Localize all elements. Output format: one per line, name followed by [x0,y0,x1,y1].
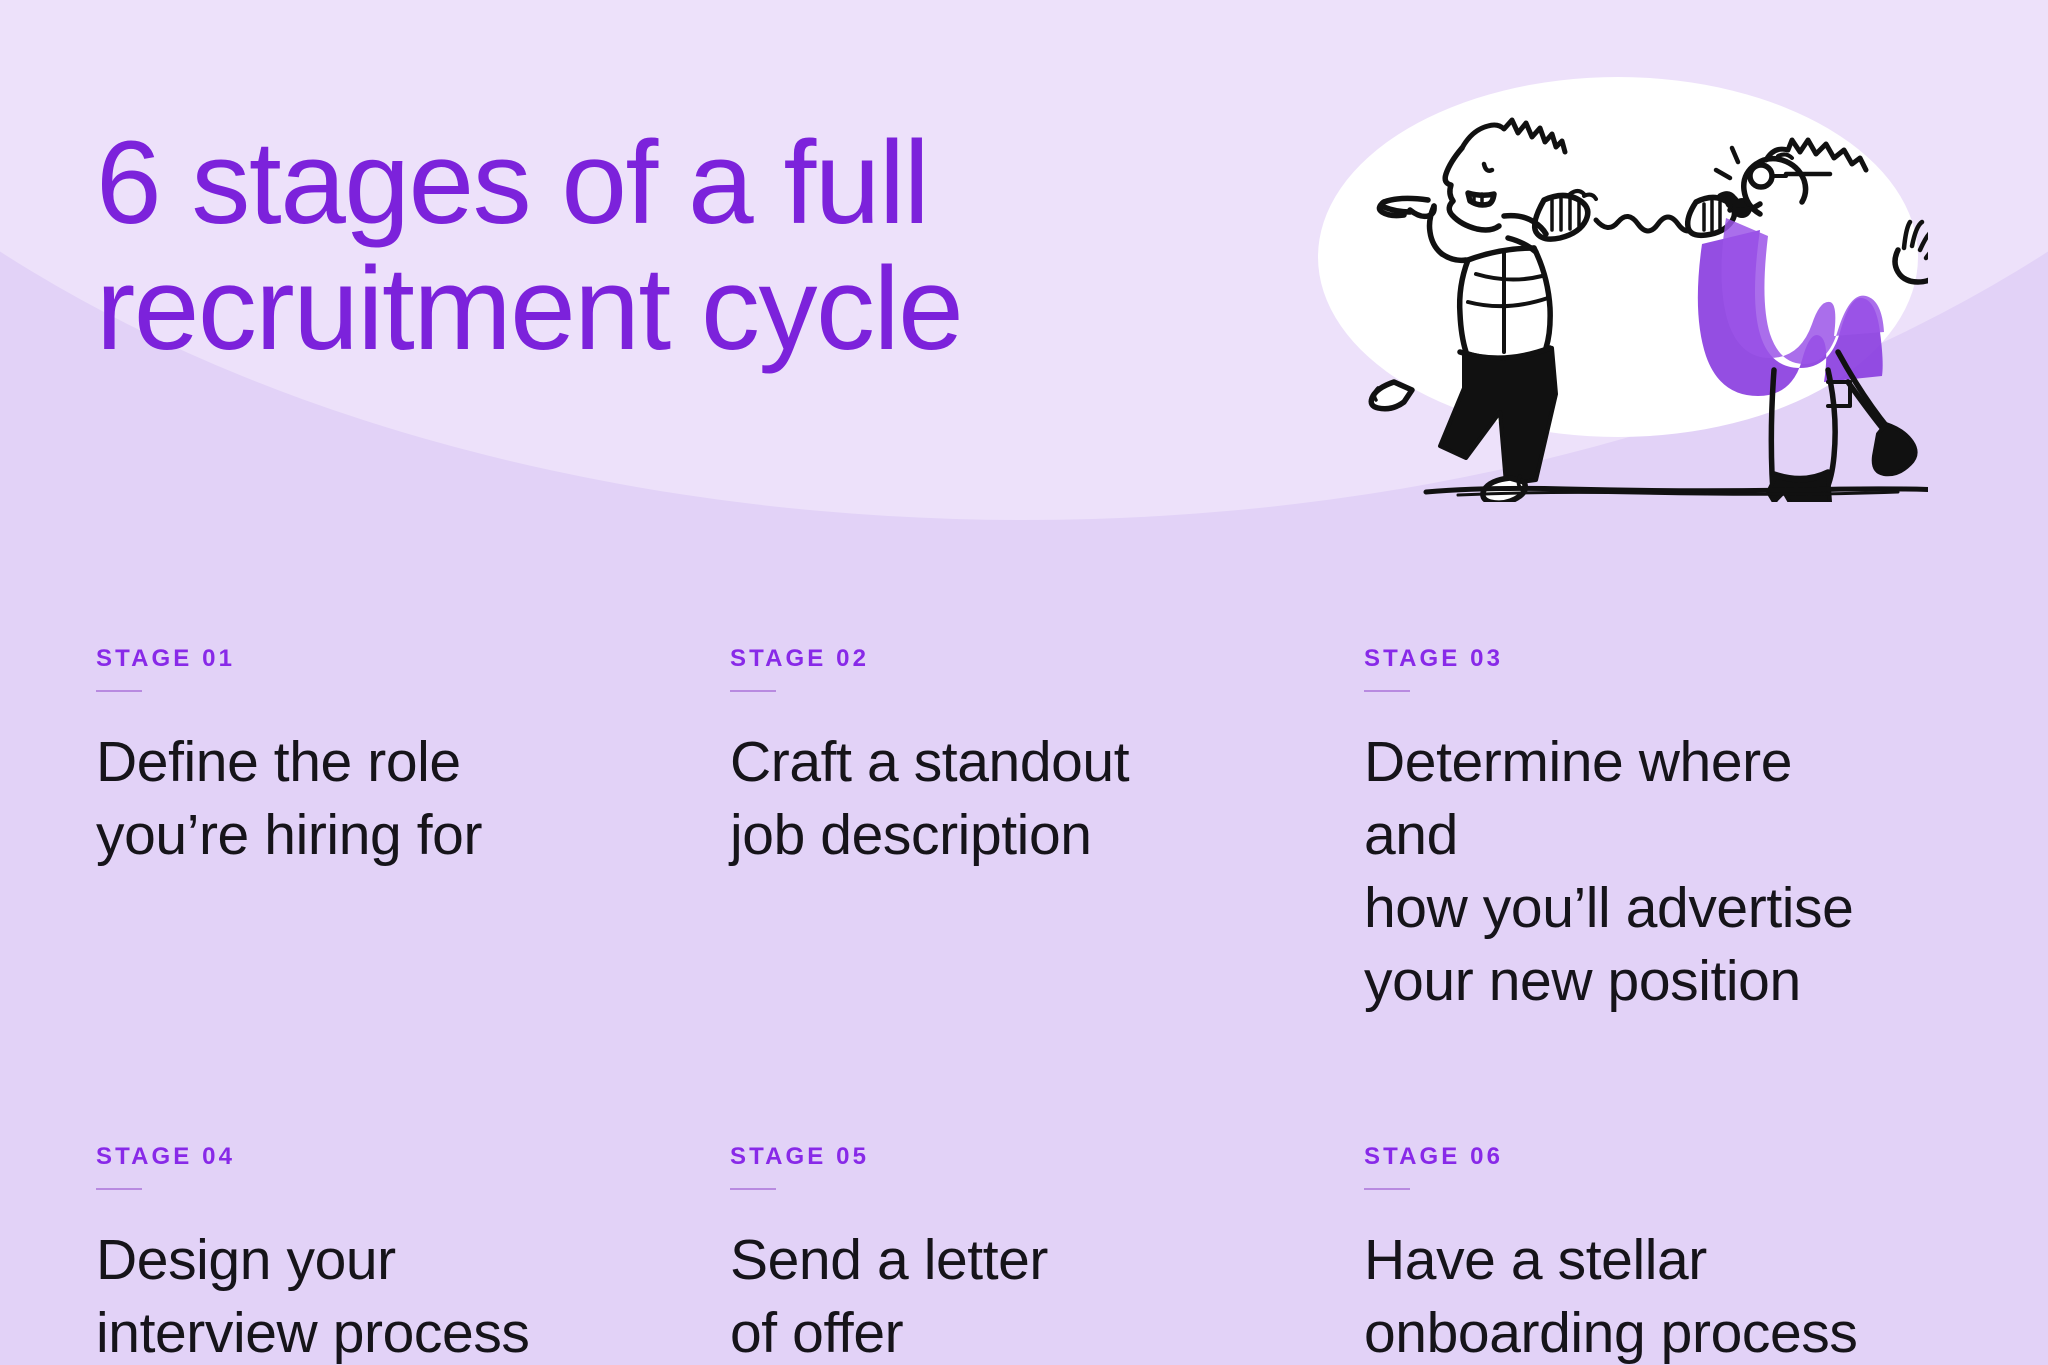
stage-title: Send a letter of offer [730,1224,1294,1365]
stage-rule [1364,690,1410,692]
stage-kicker: STAGE 05 [730,1143,1294,1171]
stage-card-05: STAGE 05 Send a letter of offer [730,1143,1364,1365]
stage-rule [730,1188,776,1190]
stage-kicker: STAGE 06 [1364,1143,1896,1171]
stage-card-01: STAGE 01 Define the role you’re hiring f… [96,645,730,1018]
stage-title: Determine where and how you’ll advertise… [1364,726,1896,1018]
stage-card-02: STAGE 02 Craft a standout job descriptio… [730,645,1364,1018]
stage-card-03: STAGE 03 Determine where and how you’ll … [1364,645,1966,1018]
stage-kicker: STAGE 04 [96,1143,660,1171]
stages-grid: STAGE 01 Define the role you’re hiring f… [96,645,1966,1365]
stage-rule [96,690,142,692]
page-title: 6 stages of a full recruitment cycle [96,120,1096,373]
stage-rule [96,1188,142,1190]
two-people-tin-can-telephone-illustration [1308,52,1928,502]
stage-kicker: STAGE 01 [96,645,660,673]
stage-kicker: STAGE 02 [730,645,1294,673]
stage-card-06: STAGE 06 Have a stellar onboarding proce… [1364,1143,1966,1365]
stage-rule [730,690,776,692]
stage-title: Craft a standout job description [730,726,1294,872]
stage-rule [1364,1188,1410,1190]
stage-card-04: STAGE 04 Design your interview process [96,1143,730,1365]
stage-kicker: STAGE 03 [1364,645,1896,673]
stage-title: Define the role you’re hiring for [96,726,660,872]
stage-title: Design your interview process [96,1224,660,1365]
stage-title: Have a stellar onboarding process [1364,1224,1896,1365]
infographic-poster: 6 stages of a full recruitment cycle [0,0,2048,1365]
